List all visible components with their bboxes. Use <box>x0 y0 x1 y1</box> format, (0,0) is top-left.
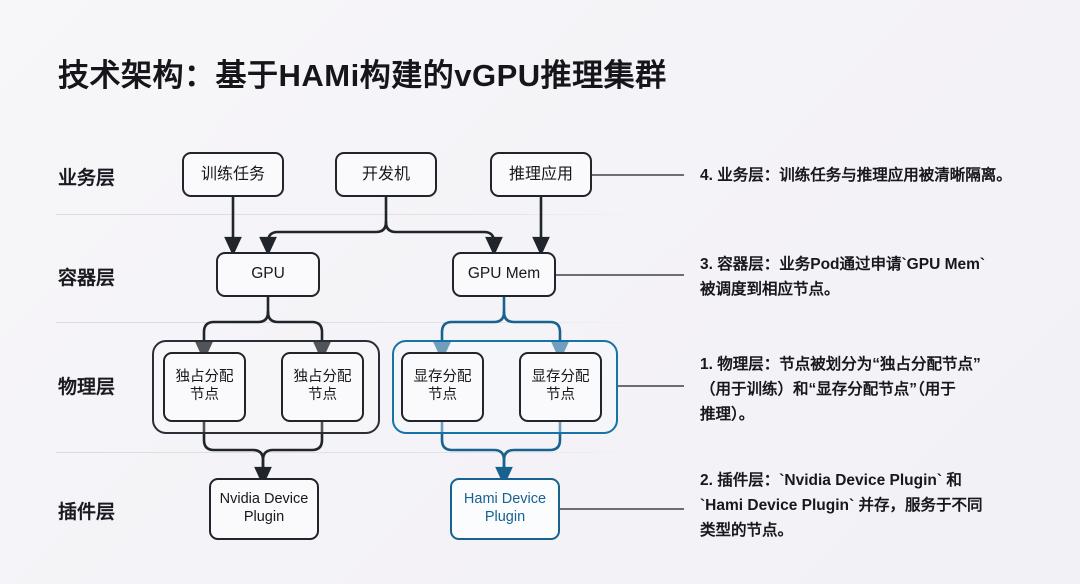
layer-label-container: 容器层 <box>58 263 178 290</box>
node-dev-machine[interactable]: 开发机 <box>335 152 437 197</box>
band-separator-1 <box>56 214 642 215</box>
layer-label-plugin: 插件层 <box>58 497 178 524</box>
node-gpu-mem[interactable]: GPU Mem <box>452 252 556 297</box>
node-vmem-1[interactable]: 显存分配 节点 <box>401 352 484 422</box>
band-separator-2 <box>56 322 642 323</box>
annotation-physical: 1. 物理层：节点被划分为“独占分配节点” （用于训练）和“显存分配节点”（用于… <box>700 352 1076 427</box>
node-vmem-2[interactable]: 显存分配 节点 <box>519 352 602 422</box>
node-inference-app[interactable]: 推理应用 <box>490 152 592 197</box>
leader-line-container <box>556 274 684 276</box>
node-hami-device-plugin[interactable]: Hami Device Plugin <box>450 478 560 540</box>
annotation-business: 4. 业务层：训练任务与推理应用被清晰隔离。 <box>700 163 1076 188</box>
leader-line-plugin <box>560 508 684 510</box>
annotation-container: 3. 容器层：业务Pod通过申请`GPU Mem` 被调度到相应节点。 <box>700 252 1076 302</box>
node-gpu[interactable]: GPU <box>216 252 320 297</box>
page-title: 技术架构：基于HAMi构建的vGPU推理集群 <box>58 50 667 95</box>
annotation-plugin: 2. 插件层：`Nvidia Device Plugin` 和 `Hami De… <box>700 468 1076 543</box>
node-exclusive-2[interactable]: 独占分配 节点 <box>281 352 364 422</box>
leader-line-physical <box>618 385 684 387</box>
band-separator-3 <box>56 452 642 453</box>
node-train-task[interactable]: 训练任务 <box>182 152 284 197</box>
leader-line-business <box>592 174 684 176</box>
node-exclusive-1[interactable]: 独占分配 节点 <box>163 352 246 422</box>
node-nvidia-device-plugin[interactable]: Nvidia Device Plugin <box>209 478 319 540</box>
layer-label-business: 业务层 <box>58 163 178 190</box>
